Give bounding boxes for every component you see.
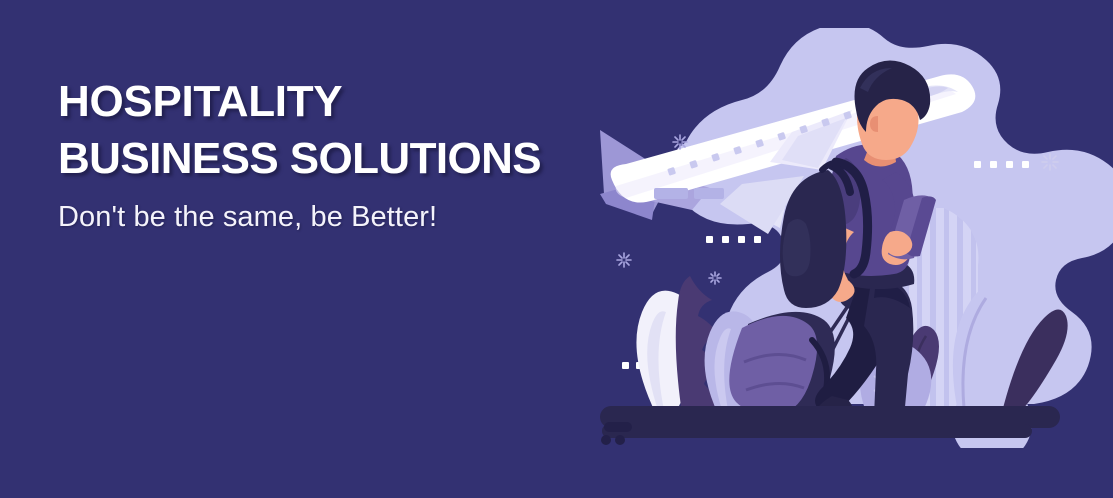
banner-subtitle: Don't be the same, be Better! <box>58 202 598 234</box>
banner-copy: HOSPITALITY BUSINESS SOLUTIONS Don't be … <box>58 74 598 233</box>
hospitality-banner: HOSPITALITY BUSINESS SOLUTIONS Don't be … <box>0 0 1113 498</box>
headline-line-2: BUSINESS SOLUTIONS <box>58 134 541 183</box>
page-title: HOSPITALITY BUSINESS SOLUTIONS <box>58 74 598 188</box>
traveler-illustration <box>560 28 1113 448</box>
headline-line-1: HOSPITALITY <box>58 77 342 126</box>
